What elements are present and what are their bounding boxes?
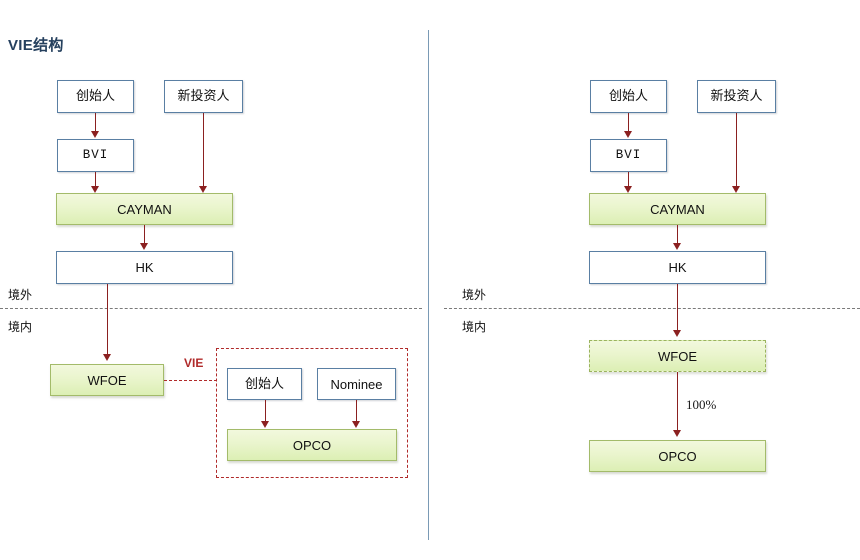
- label-vie-control: VIE: [184, 356, 203, 370]
- label-offshore-left: 境外: [8, 286, 32, 303]
- edge-nominee-to-opco-left: [356, 400, 357, 422]
- panel-divider: [428, 30, 429, 540]
- node-cayman-left[interactable]: CAYMAN: [56, 193, 233, 225]
- arrowhead-investor-to-cayman-right: [732, 186, 740, 193]
- edge-investor-to-cayman-right: [736, 113, 737, 186]
- edge-cayman-to-hk-right: [677, 225, 678, 244]
- arrowhead-investor-to-cayman-left: [199, 186, 207, 193]
- panel-vie-structure: VIE结构 创始人 新投资人 BVI CAYMAN HK 境外 境内 WFOE …: [0, 0, 430, 560]
- arrowhead-hk-to-wfoe-right: [673, 330, 681, 337]
- node-hk-left[interactable]: HK: [56, 251, 233, 284]
- node-hk-right[interactable]: HK: [589, 251, 766, 284]
- edge-founder-to-opco-left: [265, 400, 266, 422]
- edge-investor-to-cayman-left: [203, 113, 204, 186]
- arrowhead-wfoe-to-opco-right: [673, 430, 681, 437]
- label-ownership-percent: 100%: [686, 397, 716, 413]
- edge-hk-to-wfoe-left: [107, 284, 108, 355]
- node-wfoe-right[interactable]: WFOE: [589, 340, 766, 372]
- edge-wfoe-to-opco-right: [677, 372, 678, 431]
- edge-founder-to-bvi-right: [628, 113, 629, 132]
- node-wfoe-left[interactable]: WFOE: [50, 364, 164, 396]
- arrowhead-founder-to-opco-left: [261, 421, 269, 428]
- edge-hk-to-wfoe-right: [677, 284, 678, 331]
- node-bvi-left[interactable]: BVI: [57, 139, 134, 172]
- arrowhead-bvi-to-cayman-left: [91, 186, 99, 193]
- arrowhead-cayman-to-hk-right: [673, 243, 681, 250]
- jurisdiction-divider-left: [0, 308, 422, 309]
- node-opco-left[interactable]: OPCO: [227, 429, 397, 461]
- edge-bvi-to-cayman-right: [628, 172, 629, 186]
- arrowhead-founder-to-bvi-right: [624, 131, 632, 138]
- panel-direct-structure: 直接持股结构 创始人 新投资人 BVI CAYMAN HK 境外 境内 WFOE…: [430, 0, 860, 560]
- node-bvi-right[interactable]: BVI: [590, 139, 667, 172]
- node-opco-right[interactable]: OPCO: [589, 440, 766, 472]
- diagram-canvas: VIE结构 创始人 新投资人 BVI CAYMAN HK 境外 境内 WFOE …: [0, 0, 860, 560]
- label-onshore-right: 境内: [462, 318, 486, 335]
- jurisdiction-divider-right: [444, 308, 860, 309]
- node-cayman-right[interactable]: CAYMAN: [589, 193, 766, 225]
- arrowhead-nominee-to-opco-left: [352, 421, 360, 428]
- node-founder-top-right[interactable]: 创始人: [590, 80, 667, 113]
- arrowhead-hk-to-wfoe-left: [103, 354, 111, 361]
- edge-bvi-to-cayman-left: [95, 172, 96, 186]
- node-founder-opco-left[interactable]: 创始人: [227, 368, 302, 400]
- node-founder-top-left[interactable]: 创始人: [57, 80, 134, 113]
- node-nominee-left[interactable]: Nominee: [317, 368, 396, 400]
- node-new-investor-left[interactable]: 新投资人: [164, 80, 243, 113]
- edge-founder-to-bvi-left: [95, 113, 96, 132]
- node-new-investor-right[interactable]: 新投资人: [697, 80, 776, 113]
- arrowhead-cayman-to-hk-left: [140, 243, 148, 250]
- label-offshore-right: 境外: [462, 286, 486, 303]
- arrowhead-bvi-to-cayman-right: [624, 186, 632, 193]
- panel-title-vie: VIE结构: [8, 34, 64, 55]
- label-onshore-left: 境内: [8, 318, 32, 335]
- edge-vie-control-link: [164, 380, 217, 381]
- edge-cayman-to-hk-left: [144, 225, 145, 244]
- arrowhead-founder-to-bvi-left: [91, 131, 99, 138]
